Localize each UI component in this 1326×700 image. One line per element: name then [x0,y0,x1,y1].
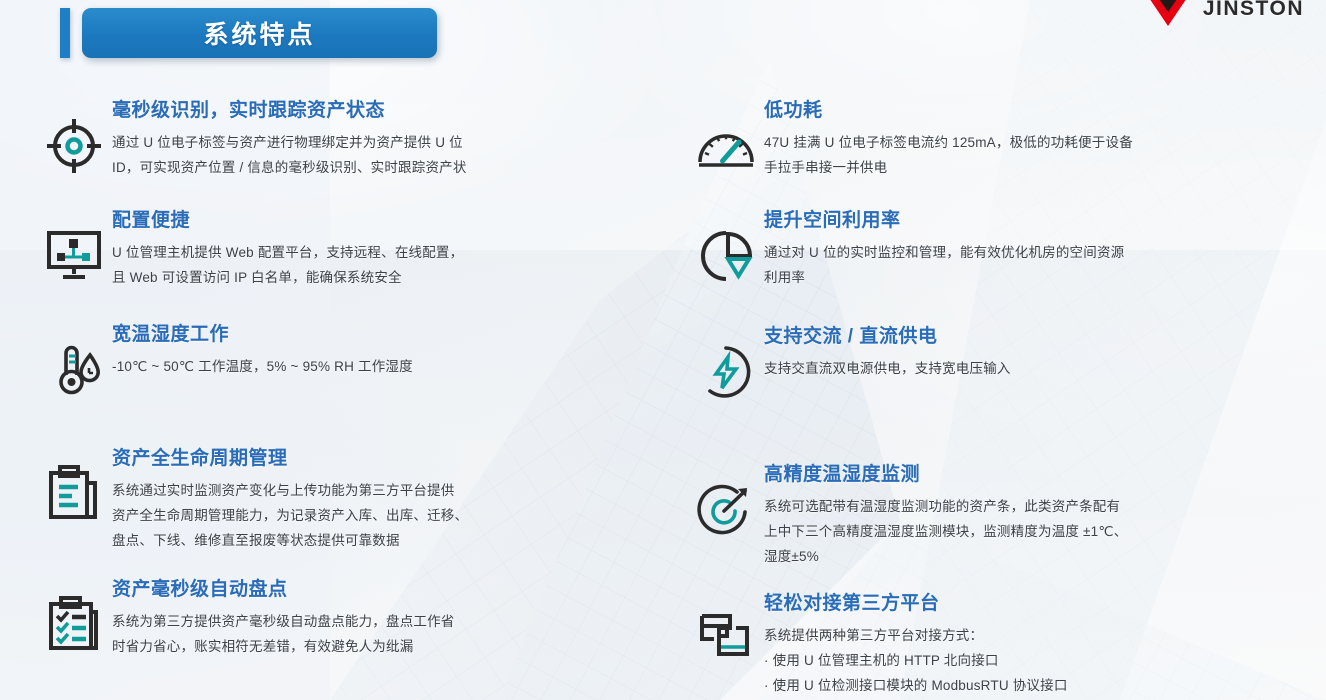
feature-description: 47U 挂满 U 位电子标签电流约 125mA，极低的功耗便于设备 手拉手串接一… [764,130,1184,180]
feature-description: 系统为第三方提供资产毫秒级自动盘点能力，盘点工作省 时省力省心，账实相符无差错，… [112,609,522,659]
feature-description: 系统提供两种第三方平台对接方式： · 使用 U 位管理主机的 HTTP 北向接口… [764,623,1184,698]
feature-title: 配置便捷 [112,210,663,233]
monitor-network-icon [36,218,112,294]
feature-column-left: 毫秒级识别，实时跟踪资产状态 通过 U 位电子标签与资产进行物理绑定并为资产提供… [0,96,663,679]
feature-item[interactable]: 高精度温湿度监测 系统可选配带有温湿度监测功能的资产条，此类资产条配有 上中下三… [688,460,1326,569]
feature-title: 低功耗 [764,100,1326,123]
feature-item[interactable]: 提升空间利用率 通过对 U 位的实时监控和管理，能有效优化机房的空间资源 利用率 [688,206,1326,294]
feature-text: 低功耗 47U 挂满 U 位电子标签电流约 125mA，极低的功耗便于设备 手拉… [764,96,1326,180]
feature-item[interactable]: 毫秒级识别，实时跟踪资产状态 通过 U 位电子标签与资产进行物理绑定并为资产提供… [36,96,663,184]
target-arrow-icon [688,472,764,548]
feature-title: 资产全生命周期管理 [112,448,663,471]
feature-item[interactable]: 低功耗 47U 挂满 U 位电子标签电流约 125mA，极低的功耗便于设备 手拉… [688,96,1326,184]
feature-title: 轻松对接第三方平台 [764,593,1326,616]
feature-title: 提升空间利用率 [764,210,1326,233]
clipboard-list-icon [36,456,112,532]
platform-integration-icon [688,601,764,677]
title-accent-bar [60,8,70,58]
feature-title: 支持交流 / 直流供电 [764,326,1326,349]
feature-text: 高精度温湿度监测 系统可选配带有温湿度监测功能的资产条，此类资产条配有 上中下三… [764,460,1326,569]
slide-page: JINSTON 系统特点 毫秒级识别，实时跟踪资产状态 [0,0,1326,700]
feature-text: 资产全生命周期管理 系统通过实时监测资产变化与上传功能为第三方平台提供 资产全生… [112,444,663,553]
feature-columns: 毫秒级识别，实时跟踪资产状态 通过 U 位电子标签与资产进行物理绑定并为资产提供… [0,96,1326,679]
feature-title: 资产毫秒级自动盘点 [112,579,663,602]
feature-description: U 位管理主机提供 Web 配置平台，支持远程、在线配置， 且 Web 可设置访… [112,240,522,290]
feature-item[interactable]: 宽温湿度工作 -10℃ ~ 50℃ 工作温度，5% ~ 95% RH 工作湿度 [36,320,663,408]
feature-title: 毫秒级识别，实时跟踪资产状态 [112,100,663,123]
feature-text: 提升空间利用率 通过对 U 位的实时监控和管理，能有效优化机房的空间资源 利用率 [764,206,1326,290]
feature-description: 系统通过实时监测资产变化与上传功能为第三方平台提供 资产全生命周期管理能力，为记… [112,478,522,553]
feature-item[interactable]: 轻松对接第三方平台 系统提供两种第三方平台对接方式： · 使用 U 位管理主机的… [688,589,1326,698]
feature-text: 毫秒级识别，实时跟踪资产状态 通过 U 位电子标签与资产进行物理绑定并为资产提供… [112,96,663,180]
title-pill: 系统特点 [82,8,437,58]
feature-text: 宽温湿度工作 -10℃ ~ 50℃ 工作温度，5% ~ 95% RH 工作湿度 [112,320,663,379]
section-title: 系统特点 [60,8,437,58]
feature-column-right: 低功耗 47U 挂满 U 位电子标签电流约 125mA，极低的功耗便于设备 手拉… [688,96,1326,698]
feature-item[interactable]: 配置便捷 U 位管理主机提供 Web 配置平台，支持远程、在线配置， 且 Web… [36,206,663,294]
section-title-text: 系统特点 [203,15,315,51]
feature-item[interactable]: 资产全生命周期管理 系统通过实时监测资产变化与上传功能为第三方平台提供 资产全生… [36,444,663,553]
feature-description: -10℃ ~ 50℃ 工作温度，5% ~ 95% RH 工作湿度 [112,354,522,379]
jinston-chevron-logo-icon [1141,0,1195,32]
feature-text: 资产毫秒级自动盘点 系统为第三方提供资产毫秒级自动盘点能力，盘点工作省 时省力省… [112,575,663,659]
feature-text: 轻松对接第三方平台 系统提供两种第三方平台对接方式： · 使用 U 位管理主机的… [764,589,1326,698]
gauge-speedometer-icon [688,108,764,184]
feature-description: 通过 U 位电子标签与资产进行物理绑定并为资产提供 U 位 ID，可实现资产位置… [112,130,522,180]
feature-description: 支持交直流双电源供电，支持宽电压输入 [764,356,1184,381]
crosshair-target-icon [36,108,112,184]
feature-description: 通过对 U 位的实时监控和管理，能有效优化机房的空间资源 利用率 [764,240,1184,290]
feature-title: 高精度温湿度监测 [764,464,1326,487]
feature-item[interactable]: 支持交流 / 直流供电 支持交直流双电源供电，支持宽电压输入 [688,322,1326,410]
power-bolt-icon [688,334,764,410]
feature-text: 支持交流 / 直流供电 支持交直流双电源供电，支持宽电压输入 [764,322,1326,381]
thermometer-humidity-icon [36,332,112,408]
feature-description: 系统可选配带有温湿度监测功能的资产条，此类资产条配有 上中下三个高精度温湿度监测… [764,494,1184,569]
pie-chart-icon [688,218,764,294]
feature-item[interactable]: 资产毫秒级自动盘点 系统为第三方提供资产毫秒级自动盘点能力，盘点工作省 时省力省… [36,575,663,663]
brand-name: JINSTON [1203,0,1304,21]
clipboard-checklist-icon [36,587,112,663]
feature-text: 配置便捷 U 位管理主机提供 Web 配置平台，支持远程、在线配置， 且 Web… [112,206,663,290]
feature-title: 宽温湿度工作 [112,324,663,347]
brand-logo: JINSTON [1141,0,1304,32]
